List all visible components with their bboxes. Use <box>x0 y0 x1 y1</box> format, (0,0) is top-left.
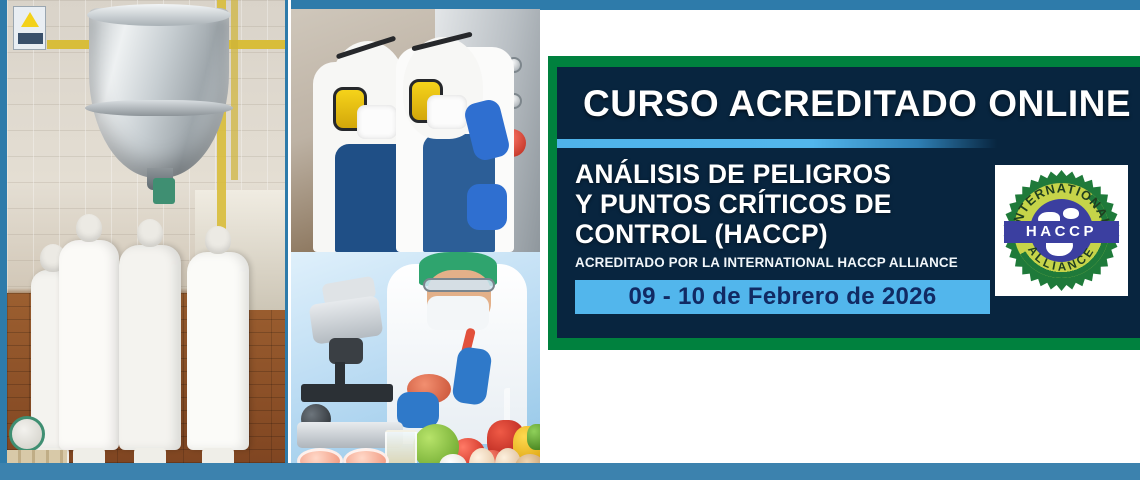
course-info-card: CURSO ACREDITADO ONLINE ANÁLISIS DE PELI… <box>548 56 1140 350</box>
face-mask <box>357 105 397 139</box>
kettle-valve <box>153 178 175 204</box>
hairnet-head <box>205 226 231 254</box>
blue-glove <box>467 184 507 230</box>
face-mask <box>427 95 467 129</box>
food-plant-kettle-workers-photo <box>0 0 288 480</box>
safety-goggles-icon <box>423 278 495 292</box>
plant-bucket <box>9 416 45 452</box>
course-date-text: 09 - 10 de Febrero de 2026 <box>629 283 937 311</box>
microscope-icon <box>295 280 413 448</box>
hairnet-head <box>137 219 163 247</box>
photo-collage <box>0 0 540 480</box>
bottom-blue-rail <box>0 463 1140 480</box>
hairnet-head <box>76 214 102 242</box>
course-title: ANÁLISIS DE PELIGROS Y PUNTOS CRÍTICOS D… <box>575 159 995 249</box>
control-panel-operators-photo <box>291 0 540 252</box>
lab-microscope-food-analysis-photo <box>291 252 540 480</box>
seal-center-text: HACCP <box>1026 223 1097 240</box>
worker-figure <box>59 240 119 450</box>
seal-center-band: HACCP <box>1004 221 1120 243</box>
worker-figure <box>119 245 181 450</box>
accreditation-note: ACREDITADO POR LA INTERNATIONAL HACCP AL… <box>575 255 1005 270</box>
accent-divider <box>557 139 997 148</box>
worker-figure <box>187 252 249 450</box>
seal-arc-bottom-text: ALLIANCE <box>1025 244 1098 274</box>
microscope-stage <box>301 384 393 402</box>
kettle-band <box>85 100 233 116</box>
top-blue-rail <box>540 0 1140 10</box>
course-kicker: CURSO ACREDITADO ONLINE <box>583 83 1128 125</box>
content-column: CURSO ACREDITADO ONLINE ANÁLISIS DE PELI… <box>540 10 1140 463</box>
haccp-alliance-seal: INTERNATIONAL ALLIANCE HACCP <box>995 165 1128 296</box>
green-pepper <box>527 424 540 450</box>
course-title-line-2: Y PUNTOS CRÍTICOS DE <box>575 189 995 219</box>
electrical-hazard-sign-icon <box>13 6 46 50</box>
microscope-nosepiece <box>329 338 363 364</box>
course-date-badge: 09 - 10 de Febrero de 2026 <box>575 280 990 314</box>
footer-logos: Organiza: GLOBAL SERVICES SM&R TRAINING … <box>1080 350 1140 473</box>
course-promo-banner: CURSO ACREDITADO ONLINE ANÁLISIS DE PELI… <box>0 0 1140 480</box>
svg-text:ALLIANCE: ALLIANCE <box>1025 244 1098 274</box>
face-mask <box>427 296 489 330</box>
kettle-rim <box>87 4 231 26</box>
course-title-line-3: CONTROL (HACCP) <box>575 219 995 249</box>
yellow-post-secondary <box>231 0 238 180</box>
course-title-line-1: ANÁLISIS DE PELIGROS <box>575 159 995 189</box>
